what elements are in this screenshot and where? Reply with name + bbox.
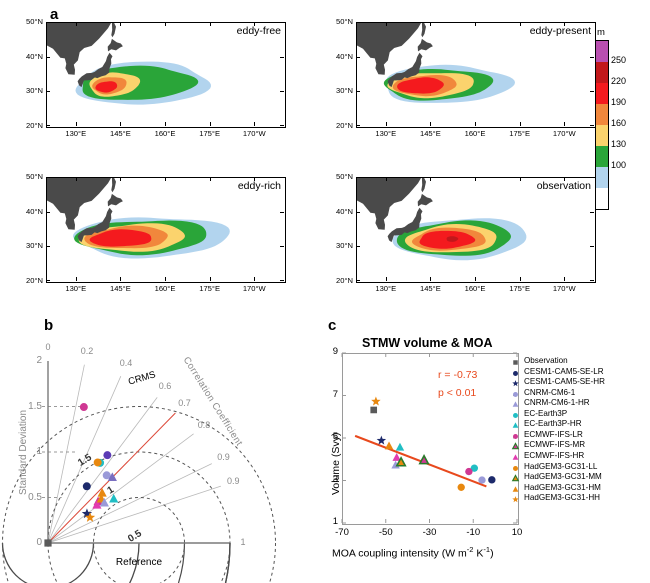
y-tickmark-right [590, 177, 594, 178]
x-tickmark-top [120, 22, 121, 26]
x-tickmark-top [76, 22, 77, 26]
y-tickmark [356, 212, 360, 213]
pvalue-annotation: p < 0.01 [438, 387, 476, 399]
colorbar: 250220190160130100 [595, 40, 650, 210]
map-grid: eddy-free130°E145°E160°E175°E170°W50°N40… [0, 0, 650, 315]
y-tick-label: 50°N [325, 172, 353, 181]
x-tick-label: 160°E [149, 129, 181, 138]
legend-marker-star [510, 494, 521, 505]
x-tickmark-top [564, 177, 565, 181]
legend-marker-circle [510, 431, 521, 442]
legend-label: EC-Earth3P [524, 409, 567, 418]
taylor-marker [98, 488, 107, 497]
legend-label: CNRM-CM6-1-HR [524, 398, 590, 407]
x-tickmark [564, 122, 565, 126]
map-title: eddy-present [530, 25, 591, 37]
x-tick-label: 130°E [370, 129, 402, 138]
legend-label: ECMWF-IFS-LR [524, 430, 583, 439]
map-panel-eddy-present: eddy-present130°E145°E160°E175°E170°W50°… [356, 22, 596, 128]
x-tick-label: 145°E [414, 129, 446, 138]
y-tickmark [356, 91, 360, 92]
x-tickmark-top [475, 177, 476, 181]
y-tick-label: 40°N [325, 52, 353, 61]
taylor-corr-tick: 0.9 [222, 476, 244, 486]
legend-marker-circle [510, 410, 521, 421]
taylor-reference-label: Reference [105, 557, 173, 568]
x-tick-label: 170°W [238, 284, 270, 293]
colorbar-tick-label: 160 [611, 118, 626, 128]
colorbar-tick-label: 130 [611, 139, 626, 149]
y-tickmark-right [590, 280, 594, 281]
legend-marker-star [510, 378, 521, 389]
legend-marker-square [510, 357, 521, 368]
x-tickmark [210, 122, 211, 126]
legend-marker-triangle [510, 452, 521, 463]
x-tick-label: 170°W [548, 129, 580, 138]
map-frame [46, 22, 286, 128]
x-tick-label: 10 [503, 527, 531, 538]
y-tick-label: 30°N [15, 86, 43, 95]
x-tickmark-top [210, 177, 211, 181]
y-tickmark-right [590, 91, 594, 92]
x-tick-label: -50 [372, 527, 400, 538]
y-tickmark [46, 57, 50, 58]
legend-marker-triangle [510, 399, 521, 410]
map-panel-eddy-free: eddy-free130°E145°E160°E175°E170°W50°N40… [46, 22, 286, 128]
x-tick-label: 145°E [414, 284, 446, 293]
x-tick-label: 145°E [104, 284, 136, 293]
x-tickmark [475, 122, 476, 126]
y-tick-label: 20°N [325, 121, 353, 130]
x-tickmark [520, 122, 521, 126]
y-tickmark-right [280, 280, 284, 281]
y-tick-label: 30°N [15, 241, 43, 250]
y-tickmark [46, 125, 50, 126]
x-tick-label: 130°E [370, 284, 402, 293]
x-tickmark-top [430, 22, 431, 26]
x-tick-label: 160°E [149, 284, 181, 293]
legend-label: HadGEM3-GC31-LL [524, 462, 597, 471]
x-tick-label: 175°E [194, 129, 226, 138]
taylor-std-tick: 2 [18, 355, 42, 366]
x-tickmark-top [254, 177, 255, 181]
x-tickmark [76, 122, 77, 126]
taylor-corr-tick: 0.8 [193, 420, 215, 430]
y-tickmark-right [590, 57, 594, 58]
figure-root: a eddy-free130°E145°E160°E175°E170°W50°N… [0, 0, 650, 583]
y-tickmark [356, 57, 360, 58]
y-tickmark [356, 280, 360, 281]
y-tickmark-right [590, 212, 594, 213]
legend-marker-circle [510, 389, 521, 400]
x-tickmark [254, 122, 255, 126]
x-tickmark [386, 277, 387, 281]
y-tickmark [46, 246, 50, 247]
y-tickmark [356, 246, 360, 247]
x-tickmark-top [475, 22, 476, 26]
colorbar-segment-green [596, 146, 608, 167]
x-tick-label: 175°E [504, 284, 536, 293]
colorbar-unit-label: m [597, 27, 605, 38]
taylor-corr-tick: 0.2 [76, 346, 98, 356]
legend-label: ECMWF-IFS-MR [524, 440, 585, 449]
colorbar-segment-dark-red [596, 62, 608, 83]
taylor-marker [44, 539, 51, 546]
x-tick-label: 175°E [504, 129, 536, 138]
legend-label: CNRM-CM6-1 [524, 388, 575, 397]
y-tick-label: 1 [324, 516, 338, 527]
x-tickmark [475, 277, 476, 281]
x-tick-label: 130°E [60, 284, 92, 293]
x-tickmark [165, 277, 166, 281]
taylor-ylabel: Standard Deviation [18, 410, 29, 495]
x-tickmark-top [210, 22, 211, 26]
taylor-marker [94, 458, 102, 466]
x-tickmark [165, 122, 166, 126]
map-frame [46, 177, 286, 283]
x-tickmark-top [520, 177, 521, 181]
legend-label: CESM1-CAM5-SE-HR [524, 377, 605, 386]
scatter-xlabel: MOA coupling intensity (W m-2 K-1) [332, 545, 494, 560]
taylor-corr-tick: 1 [232, 537, 254, 547]
y-tick-label: 7 [324, 389, 338, 400]
y-tickmark-right [280, 212, 284, 213]
y-tickmark [46, 22, 50, 23]
x-tickmark [430, 277, 431, 281]
map-panel-observation: observation130°E145°E160°E175°E170°W50°N… [356, 177, 596, 283]
x-tick-label: -70 [328, 527, 356, 538]
colorbar-segment-white [596, 188, 608, 209]
taylor-corr-tick: 0.9 [213, 452, 235, 462]
x-tickmark-top [120, 177, 121, 181]
scatter-axes-frame [342, 353, 519, 525]
y-tick-label: 30°N [325, 86, 353, 95]
legend-label: CESM1-CAM5-SE-LR [524, 367, 604, 376]
taylor-std-tick: 0 [18, 537, 42, 548]
y-tick-label: 50°N [325, 17, 353, 26]
x-tickmark-top [254, 22, 255, 26]
legend-label: HadGEM3-GC31-HH [524, 493, 600, 502]
y-tickmark [356, 125, 360, 126]
x-tickmark-top [76, 177, 77, 181]
x-tickmark-top [386, 22, 387, 26]
legend-marker-triangle [510, 473, 521, 484]
x-tickmark [210, 277, 211, 281]
colorbar-segment-light-yellow [596, 125, 608, 146]
taylor-corr-tick: 0.4 [115, 358, 137, 368]
map-frame [356, 22, 596, 128]
x-tick-label: 130°E [60, 129, 92, 138]
legend-label: ECMWF-IFS-HR [524, 451, 584, 460]
map-title: eddy-free [237, 25, 281, 37]
legend-label: HadGEM3-GC31-HM [524, 483, 601, 492]
x-tickmark-top [165, 22, 166, 26]
taylor-marker [80, 403, 88, 411]
y-tickmark-right [590, 125, 594, 126]
y-tickmark-right [280, 57, 284, 58]
y-tickmark [46, 91, 50, 92]
scatter-ylabel: Volume (Svy) [330, 433, 342, 495]
taylor-corr-tick: 0 [37, 342, 59, 352]
x-tickmark-top [165, 177, 166, 181]
scatter-legend: ObservationCESM1-CAM5-SE-LRCESM1-CAM5-SE… [510, 357, 650, 517]
taylor-diagram: 00.511.5200.20.40.60.70.80.90.910.511.5C… [0, 315, 320, 583]
y-tick-label: 40°N [15, 207, 43, 216]
colorbar-segment-orange [596, 104, 608, 125]
y-tickmark-right [280, 91, 284, 92]
colorbar-tick-label: 250 [611, 55, 626, 65]
colorbar-bar [595, 40, 609, 210]
y-tick-label: 20°N [325, 276, 353, 285]
x-tickmark-top [520, 22, 521, 26]
x-tickmark-top [430, 177, 431, 181]
colorbar-segment-red [596, 83, 608, 104]
correlation-annotation: r = -0.73 [438, 369, 477, 381]
colorbar-tick-label: 190 [611, 97, 626, 107]
y-tickmark-right [280, 22, 284, 23]
x-tick-label: -10 [459, 527, 487, 538]
y-tickmark [46, 177, 50, 178]
x-tick-label: 170°W [548, 284, 580, 293]
x-tickmark [564, 277, 565, 281]
colorbar-segment-light-blue [596, 167, 608, 188]
colorbar-tick-label: 100 [611, 160, 626, 170]
y-tickmark [46, 280, 50, 281]
x-tickmark [386, 122, 387, 126]
y-tickmark-right [590, 246, 594, 247]
legend-marker-triangle [510, 441, 521, 452]
map-frame [356, 177, 596, 283]
map-title: observation [537, 180, 591, 192]
legend-label: Observation [524, 356, 568, 365]
x-tick-label: 145°E [104, 129, 136, 138]
y-tick-label: 40°N [325, 207, 353, 216]
x-tickmark [76, 277, 77, 281]
y-tickmark [356, 177, 360, 178]
y-tick-label: 30°N [325, 241, 353, 250]
colorbar-tick-label: 220 [611, 76, 626, 86]
map-panel-eddy-rich: eddy-rich130°E145°E160°E175°E170°W50°N40… [46, 177, 286, 283]
x-tickmark [120, 277, 121, 281]
legend-marker-circle [510, 368, 521, 379]
legend-marker-triangle [510, 484, 521, 495]
map-title: eddy-rich [238, 180, 281, 192]
y-tickmark-right [280, 177, 284, 178]
colorbar-segment-magenta [596, 41, 608, 62]
y-tickmark-right [590, 22, 594, 23]
x-tickmark [520, 277, 521, 281]
x-tickmark [254, 277, 255, 281]
x-tick-label: -30 [416, 527, 444, 538]
taylor-marker [83, 482, 91, 490]
x-tick-label: 160°E [459, 129, 491, 138]
x-tickmark [120, 122, 121, 126]
x-tick-label: 175°E [194, 284, 226, 293]
y-tickmark-right [280, 246, 284, 247]
y-tick-label: 50°N [15, 172, 43, 181]
legend-label: EC-Earth3P-HR [524, 419, 582, 428]
taylor-corr-tick: 0.6 [154, 381, 176, 391]
y-tickmark [46, 212, 50, 213]
panel-c: c STMW volume & MOA -70-50-30-101013579r… [320, 315, 650, 583]
x-tick-label: 160°E [459, 284, 491, 293]
legend-marker-triangle [510, 420, 521, 431]
y-tick-label: 20°N [15, 121, 43, 130]
y-tickmark-right [280, 125, 284, 126]
taylor-corr-tick: 0.7 [174, 398, 196, 408]
legend-label: HadGEM3-GC31-MM [524, 472, 602, 481]
x-tickmark-top [386, 177, 387, 181]
legend-marker-circle [510, 463, 521, 474]
y-tickmark [356, 22, 360, 23]
y-tick-label: 40°N [15, 52, 43, 61]
y-tick-label: 9 [324, 346, 338, 357]
x-tickmark [430, 122, 431, 126]
y-tick-label: 20°N [15, 276, 43, 285]
x-tickmark-top [564, 22, 565, 26]
legend-item[interactable]: HadGEM3-GC31-HH [510, 494, 650, 505]
panel-a: a eddy-free130°E145°E160°E175°E170°W50°N… [0, 0, 650, 315]
taylor-marker [103, 451, 111, 459]
x-tick-label: 170°W [238, 129, 270, 138]
panel-b: b 00.511.5200.20.40.60.70.80.90.910.511.… [0, 315, 320, 583]
y-tick-label: 50°N [15, 17, 43, 26]
